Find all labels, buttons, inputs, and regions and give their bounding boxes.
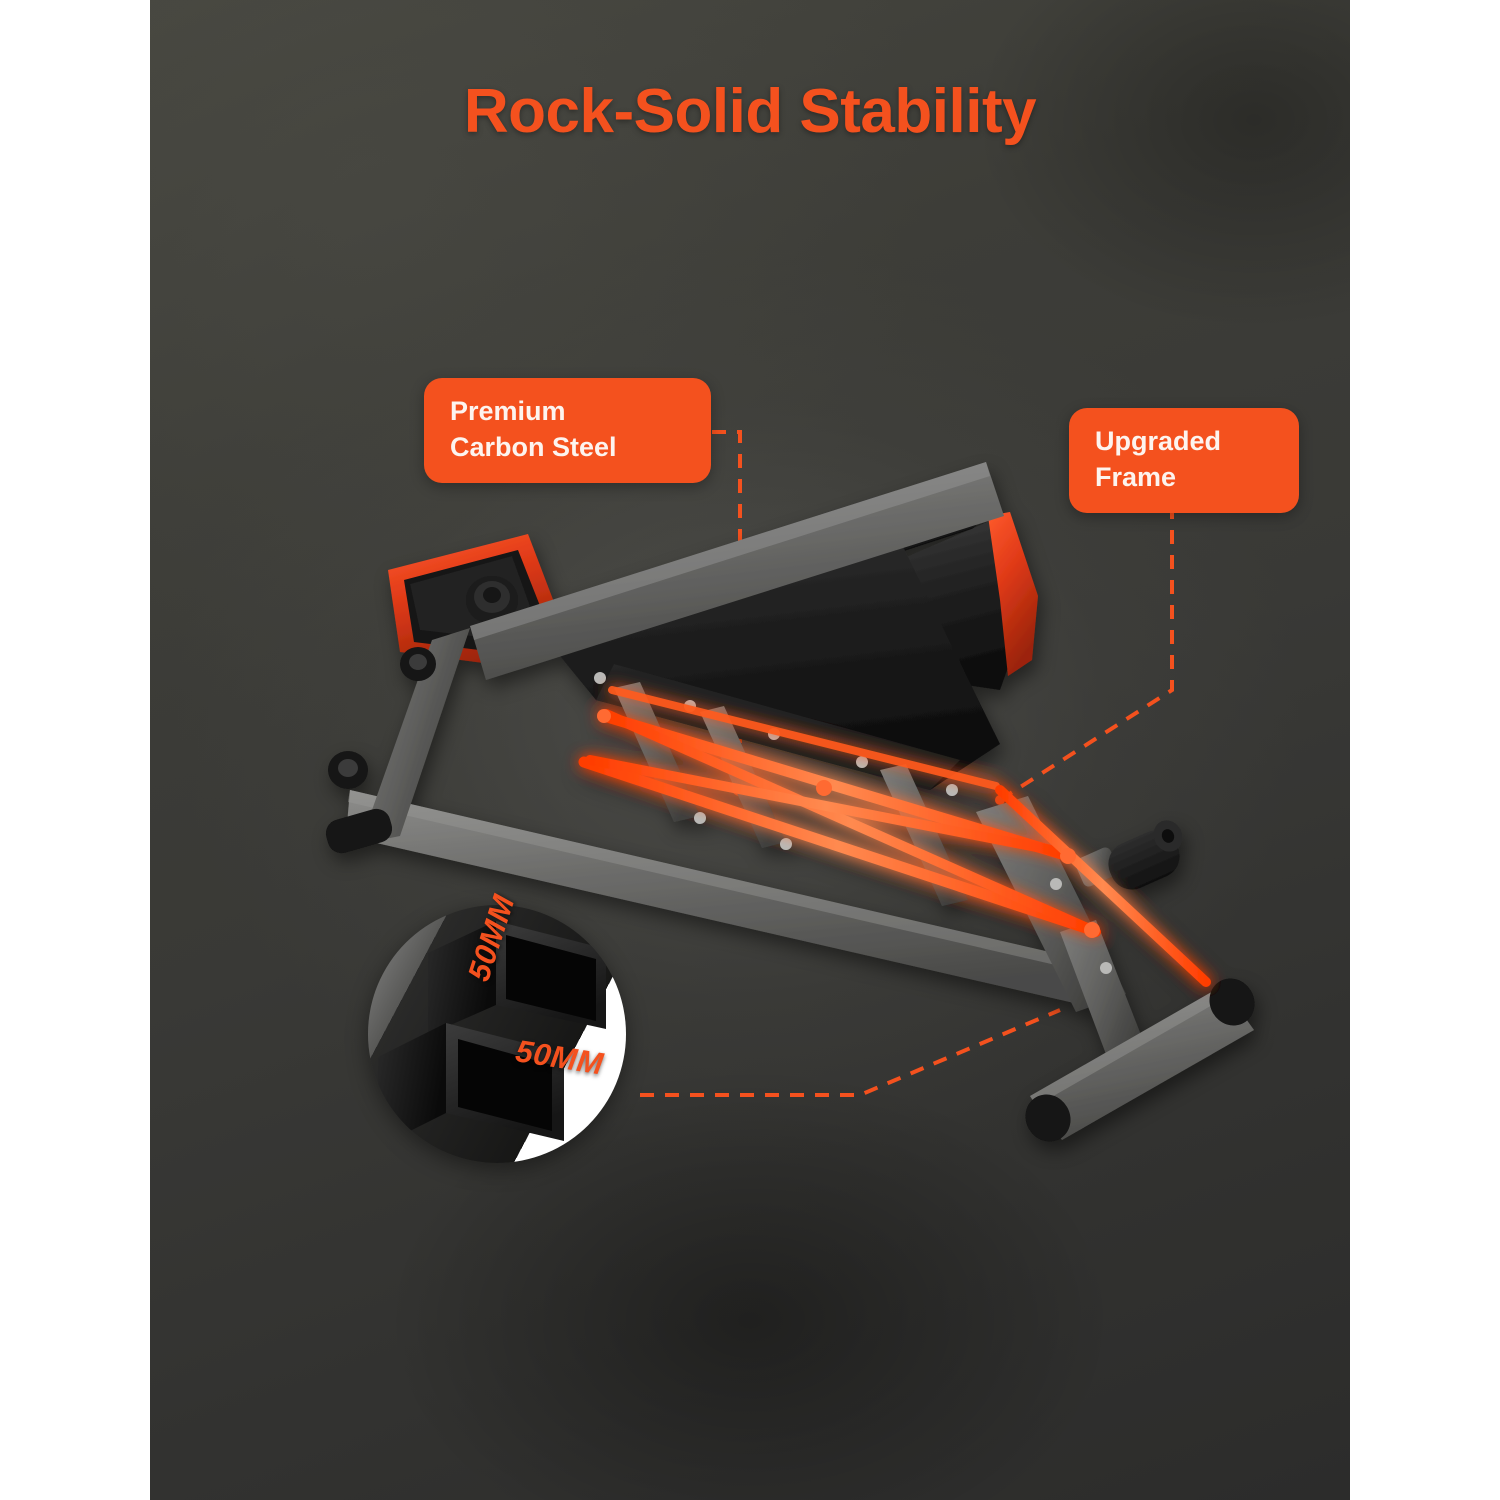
callout-badge-premium-carbon-steel[interactable]: Premium Carbon Steel: [424, 378, 711, 483]
page-title: Rock-Solid Stability: [150, 76, 1350, 147]
callout-badge-upgraded-frame[interactable]: Upgraded Frame: [1069, 408, 1299, 513]
product-feature-image: Rock-Solid Stability: [0, 0, 1500, 1500]
dark-background-panel: [150, 0, 1350, 1500]
square-tube-upper: [428, 921, 606, 1035]
